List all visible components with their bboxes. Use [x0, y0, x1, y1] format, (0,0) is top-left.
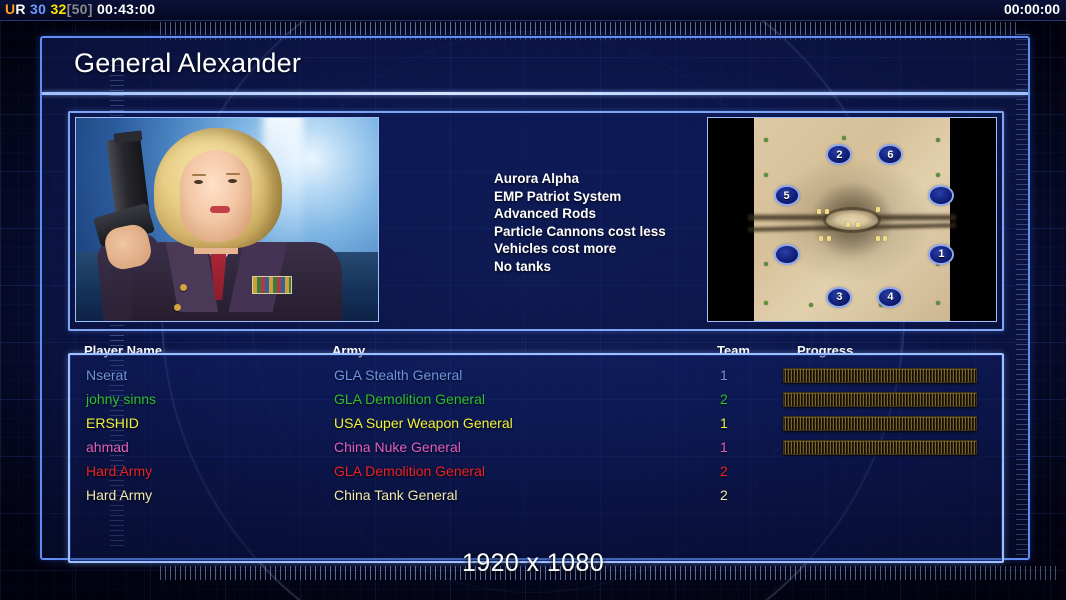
map-start-position-5: 5 [776, 187, 798, 204]
map-tree-icon [764, 173, 768, 177]
game-screen: UR 30 32[50] 00:43:00 00:00:00 General A… [0, 0, 1066, 600]
cell-player-name: Hard Army [86, 483, 152, 507]
general-abilities-list: Aurora Alpha EMP Patriot System Advanced… [494, 170, 666, 275]
cell-player-name: ahmad [86, 435, 129, 459]
cell-team: 2 [720, 483, 728, 507]
cell-army: GLA Demolition General [334, 459, 485, 483]
ability-item: Particle Cannons cost less [494, 223, 666, 241]
cell-team: 1 [720, 411, 728, 435]
status-prefix-u: U [5, 1, 15, 17]
status-right-timer: 00:00:00 [1004, 1, 1060, 17]
map-supply-icon [827, 236, 831, 241]
table-row[interactable]: johny sinnsGLA Demolition General2 [70, 387, 1002, 411]
map-start-position-6: 6 [879, 146, 901, 163]
map-supply-icon [817, 209, 821, 214]
page-title: General Alexander [74, 48, 301, 79]
map-supply-icon [825, 209, 829, 214]
cell-team: 2 [720, 459, 728, 483]
map-supply-icon [856, 222, 860, 227]
status-number-1: 30 [30, 1, 46, 17]
main-frame-panel: General Alexander [40, 36, 1030, 560]
cell-army: GLA Stealth General [334, 363, 462, 387]
map-preview: 265134 [707, 117, 997, 322]
map-tree-icon [936, 301, 940, 305]
map-supply-icon [876, 236, 880, 241]
table-row[interactable]: NseratGLA Stealth General1 [70, 363, 1002, 387]
map-start-position-4: 4 [879, 289, 901, 306]
table-row[interactable]: Hard ArmyGLA Demolition General2 [70, 459, 1002, 483]
general-portrait [75, 117, 379, 322]
portrait-eyebrow [226, 173, 240, 175]
progress-bar [783, 392, 977, 407]
portrait-eye [194, 180, 203, 184]
player-list-panel: NseratGLA Stealth General1johny sinnsGLA… [68, 353, 1004, 563]
portrait-button [180, 284, 187, 291]
map-tree-icon [842, 136, 846, 140]
title-separator [42, 92, 1028, 95]
portrait-face [180, 150, 252, 242]
general-info-panel: Aurora Alpha EMP Patriot System Advanced… [68, 111, 1004, 331]
map-start-position-empty-3 [930, 187, 952, 204]
map-supply-icon [876, 207, 880, 212]
map-terrain: 265134 [754, 118, 950, 321]
status-left-group: UR 30 32[50] 00:43:00 [5, 1, 155, 17]
cell-player-name: ERSHID [86, 411, 139, 435]
map-supply-icon [819, 236, 823, 241]
top-status-bar: UR 30 32[50] 00:43:00 00:00:00 [0, 0, 1066, 21]
cell-team: 1 [720, 435, 728, 459]
map-start-position-empty-4 [776, 246, 798, 263]
status-bracket-value: [50] [67, 1, 93, 17]
cell-player-name: johny sinns [86, 387, 156, 411]
resolution-overlay: 1920 x 1080 [0, 549, 1066, 578]
ability-item: No tanks [494, 258, 666, 276]
ability-item: Advanced Rods [494, 205, 666, 223]
progress-bar [783, 416, 977, 431]
cell-player-name: Hard Army [86, 459, 152, 483]
status-prefix-r: R [15, 1, 25, 17]
map-start-position-2: 2 [828, 146, 850, 163]
table-row[interactable]: Hard ArmyChina Tank General2 [70, 483, 1002, 507]
map-tree-icon [809, 303, 813, 307]
table-row[interactable]: ahmadChina Nuke General1 [70, 435, 1002, 459]
map-start-position-3: 3 [828, 289, 850, 306]
ability-item: EMP Patriot System [494, 188, 666, 206]
map-supply-icon [846, 222, 850, 227]
cell-army: China Tank General [334, 483, 457, 507]
map-supply-icon [883, 236, 887, 241]
cell-army: China Nuke General [334, 435, 461, 459]
portrait-lips [210, 206, 230, 213]
map-tree-icon [764, 301, 768, 305]
map-tree-icon [764, 262, 768, 266]
map-tree-icon [936, 173, 940, 177]
progress-bar [783, 368, 977, 383]
cell-team: 2 [720, 387, 728, 411]
ability-item: Aurora Alpha [494, 170, 666, 188]
portrait-eye [228, 179, 237, 183]
ability-item: Vehicles cost more [494, 240, 666, 258]
cell-player-name: Nserat [86, 363, 127, 387]
cell-army: GLA Demolition General [334, 387, 485, 411]
cell-army: USA Super Weapon General [334, 411, 513, 435]
portrait-button [174, 304, 181, 311]
map-tree-icon [936, 138, 940, 142]
map-tree-icon [764, 138, 768, 142]
status-number-2: 32 [50, 1, 66, 17]
map-start-position-1: 1 [930, 246, 952, 263]
map-center-feature [826, 210, 878, 230]
status-clock: 00:43:00 [97, 1, 155, 17]
table-row[interactable]: ERSHIDUSA Super Weapon General1 [70, 411, 1002, 435]
portrait-eyebrow [192, 174, 206, 176]
portrait-medal-ribbons [252, 276, 292, 294]
cell-team: 1 [720, 363, 728, 387]
progress-bar [783, 440, 977, 455]
